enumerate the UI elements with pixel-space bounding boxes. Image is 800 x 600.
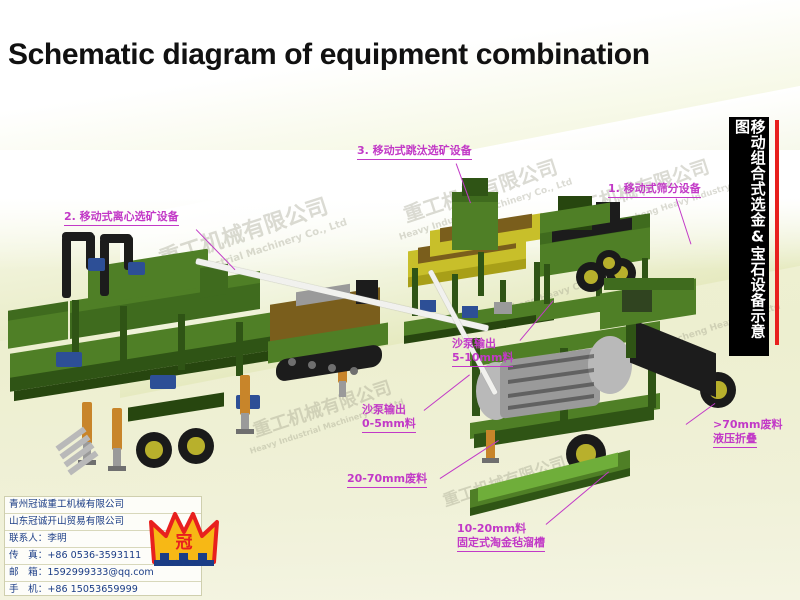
- diagram-canvas: Schematic diagram of equipment combinati…: [0, 0, 800, 600]
- label-mobile-jig[interactable]: 3. 移动式跳汰选矿设备: [357, 144, 472, 160]
- label-mobile-jig-text: 3. 移动式跳汰选矿设备: [357, 144, 472, 160]
- far-trailer-tire: [596, 250, 622, 276]
- support-column: [72, 300, 79, 358]
- label-sand-pump-0-5-line1: 沙泵输出: [362, 403, 416, 417]
- hydraulic-leg-rod: [113, 448, 121, 468]
- jig-feed-box: [452, 198, 498, 250]
- label-sand-pump-5-10-line1: 沙泵输出: [452, 337, 513, 351]
- jig-gearbox: [494, 302, 512, 314]
- screen-leg: [544, 264, 550, 304]
- cyclone-pipe-left: [62, 236, 71, 298]
- label-sluice-10-20-line2: 固定式淘金毡溜槽: [457, 536, 545, 552]
- red-accent-bar: [775, 120, 779, 345]
- track-roller: [350, 367, 358, 375]
- hydraulic-leg-foot: [236, 429, 254, 434]
- label-mobile-centrifugal[interactable]: 2. 移动式离心选矿设备: [64, 210, 179, 226]
- label-mobile-centrifugal-text: 2. 移动式离心选矿设备: [64, 210, 179, 226]
- hydraulic-leg-rod: [339, 381, 346, 397]
- track-roller: [328, 364, 336, 372]
- label-sluice-10-20[interactable]: 10-20mm料 固定式淘金毡溜槽: [457, 522, 545, 552]
- label-waste-20-70[interactable]: 20-70mm废料: [347, 472, 427, 488]
- trailer-tire: [136, 432, 172, 468]
- motor-blue-3: [56, 352, 82, 367]
- trommel-feed-hopper-lip: [604, 278, 694, 290]
- vertical-title-banner: 移动组合式选金&宝石设备示意图: [729, 117, 769, 356]
- motor-blue-1: [88, 258, 105, 271]
- label-mobile-screening-text: 1. 移动式筛分设备: [608, 182, 701, 198]
- label-sand-pump-5-10[interactable]: 沙泵输出 5-10mm料: [452, 337, 513, 367]
- jig-leg: [478, 252, 484, 296]
- label-sand-pump-0-5-line2: 0-5mm料: [362, 417, 416, 433]
- track-roller: [308, 361, 316, 369]
- hydraulic-leg: [240, 375, 250, 415]
- motor-blue-2: [128, 262, 145, 275]
- contact-row-mobile: 手 机：+86 15053659999: [5, 582, 201, 598]
- svg-text:冠: 冠: [176, 533, 193, 553]
- track-roller: [288, 358, 296, 366]
- hydraulic-leg: [112, 408, 122, 450]
- label-waste-over-70[interactable]: >70mm废料 液压折叠: [713, 418, 782, 448]
- label-sand-pump-0-5[interactable]: 沙泵输出 0-5mm料: [362, 403, 416, 433]
- support-column: [178, 314, 185, 370]
- label-waste-over-70-line2: 液压折叠: [713, 432, 757, 448]
- trommel-leg-foot: [482, 458, 499, 463]
- label-waste-over-70-line1: >70mm废料: [713, 418, 782, 432]
- label-mobile-screening[interactable]: 1. 移动式筛分设备: [608, 182, 701, 198]
- logo-caption: 冠诚重工: [152, 558, 216, 567]
- motor-blue-4: [150, 375, 176, 389]
- vertical-title-text: 移动组合式选金&宝石设备示意图: [733, 119, 764, 354]
- label-sluice-10-20-line1: 10-20mm料: [457, 522, 545, 536]
- support-column: [120, 306, 127, 364]
- hydraulic-leg-foot: [108, 466, 126, 471]
- label-waste-20-70-text: 20-70mm废料: [347, 472, 427, 488]
- page-title: Schematic diagram of equipment combinati…: [8, 38, 650, 72]
- support-column: [236, 322, 243, 376]
- jig-motor: [462, 306, 478, 318]
- trommel-feed-grate: [622, 290, 652, 312]
- trailer-tire: [178, 428, 214, 464]
- label-sand-pump-5-10-line2: 5-10mm料: [452, 351, 513, 367]
